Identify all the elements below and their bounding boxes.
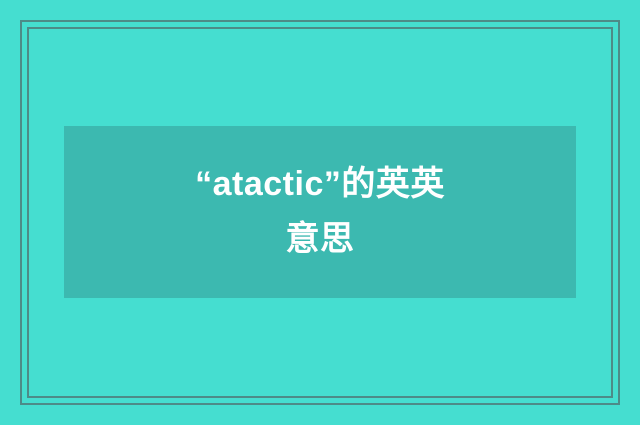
title-panel: “atactic”的英英意思 xyxy=(64,126,576,298)
page-title: “atactic”的英英意思 xyxy=(195,157,445,267)
poster-canvas: “atactic”的英英意思 xyxy=(0,0,640,425)
